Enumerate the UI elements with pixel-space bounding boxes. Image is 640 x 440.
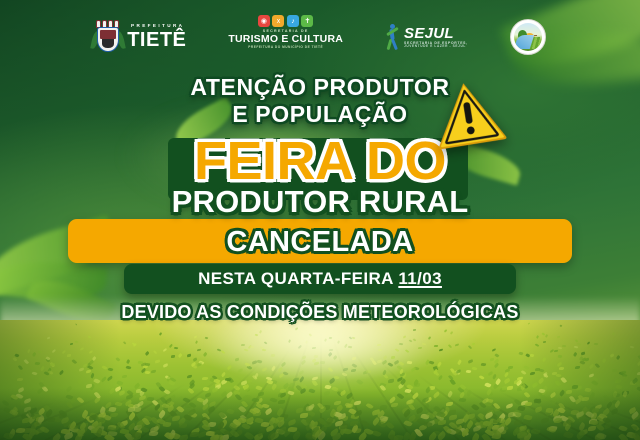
restaurant-icon: x xyxy=(272,15,284,27)
headline-produtor-rural: PRODUTOR RURAL xyxy=(172,186,469,217)
headline-feira-do: FEIRA DO xyxy=(194,134,446,188)
logo-subtitle-2: JUVENTUDE E LAZER - SEJUL xyxy=(404,45,468,48)
headline-line-2-wrap: PRODUTOR RURAL xyxy=(0,186,640,217)
attention-heading: ATENÇÃO PRODUTOR E POPULAÇÃO xyxy=(0,74,640,128)
logo-prefeitura-tiete: PREFEITURA TIETÊ xyxy=(94,15,186,59)
dancer-icon: ✝ xyxy=(301,15,313,27)
poster-canvas: PREFEITURA TIETÊ ◉ x ♪ ✝ SECRETARIA DE T… xyxy=(0,0,640,440)
field-foreground-shadow xyxy=(0,388,640,440)
logo-turismo-cultura: ◉ x ♪ ✝ SECRETARIA DE TURISMO E CULTURA … xyxy=(228,15,343,59)
logo-sejul: SEJUL SECRETARIA DE ESPORTES, JUVENTUDE … xyxy=(385,15,468,59)
status-label: CANCELADA xyxy=(226,226,413,258)
logo-title: SEJUL xyxy=(404,26,468,41)
warning-triangle-icon xyxy=(427,75,508,151)
attention-line-2: E POPULAÇÃO xyxy=(0,101,640,128)
date-band: NESTA QUARTA-FEIRA 11/03 xyxy=(124,264,516,294)
logo-subtitle: PREFEITURA DO MUNICÍPIO DE TIETÊ xyxy=(248,45,323,49)
athlete-figure-icon xyxy=(385,24,401,50)
status-badge: CANCELADA xyxy=(0,220,640,264)
music-note-icon: ♪ xyxy=(287,15,299,27)
date-text: NESTA QUARTA-FEIRA 11/03 xyxy=(198,269,442,289)
map-pin-icon: ◉ xyxy=(258,15,270,27)
rural-landscape-seal-icon xyxy=(510,19,546,55)
logo-strip: PREFEITURA TIETÊ ◉ x ♪ ✝ SECRETARIA DE T… xyxy=(0,14,640,60)
logo-agriculture-emblem xyxy=(510,15,546,59)
reason-text: DEVIDO AS CONDIÇÕES METEOROLÓGICAS xyxy=(121,302,518,322)
attention-line-1: ATENÇÃO PRODUTOR xyxy=(0,74,640,101)
logo-title: TIETÊ xyxy=(127,30,186,50)
date-day: 11/03 xyxy=(398,269,442,288)
logo-title: TURISMO E CULTURA xyxy=(228,34,343,45)
crop-field-photo xyxy=(0,320,640,440)
coat-of-arms-icon xyxy=(94,20,122,54)
date-prefix: NESTA QUARTA-FEIRA xyxy=(198,269,393,288)
reason-line: DEVIDO AS CONDIÇÕES METEOROLÓGICAS xyxy=(0,302,640,323)
headline-line-1-wrap: FEIRA DO xyxy=(0,134,640,188)
